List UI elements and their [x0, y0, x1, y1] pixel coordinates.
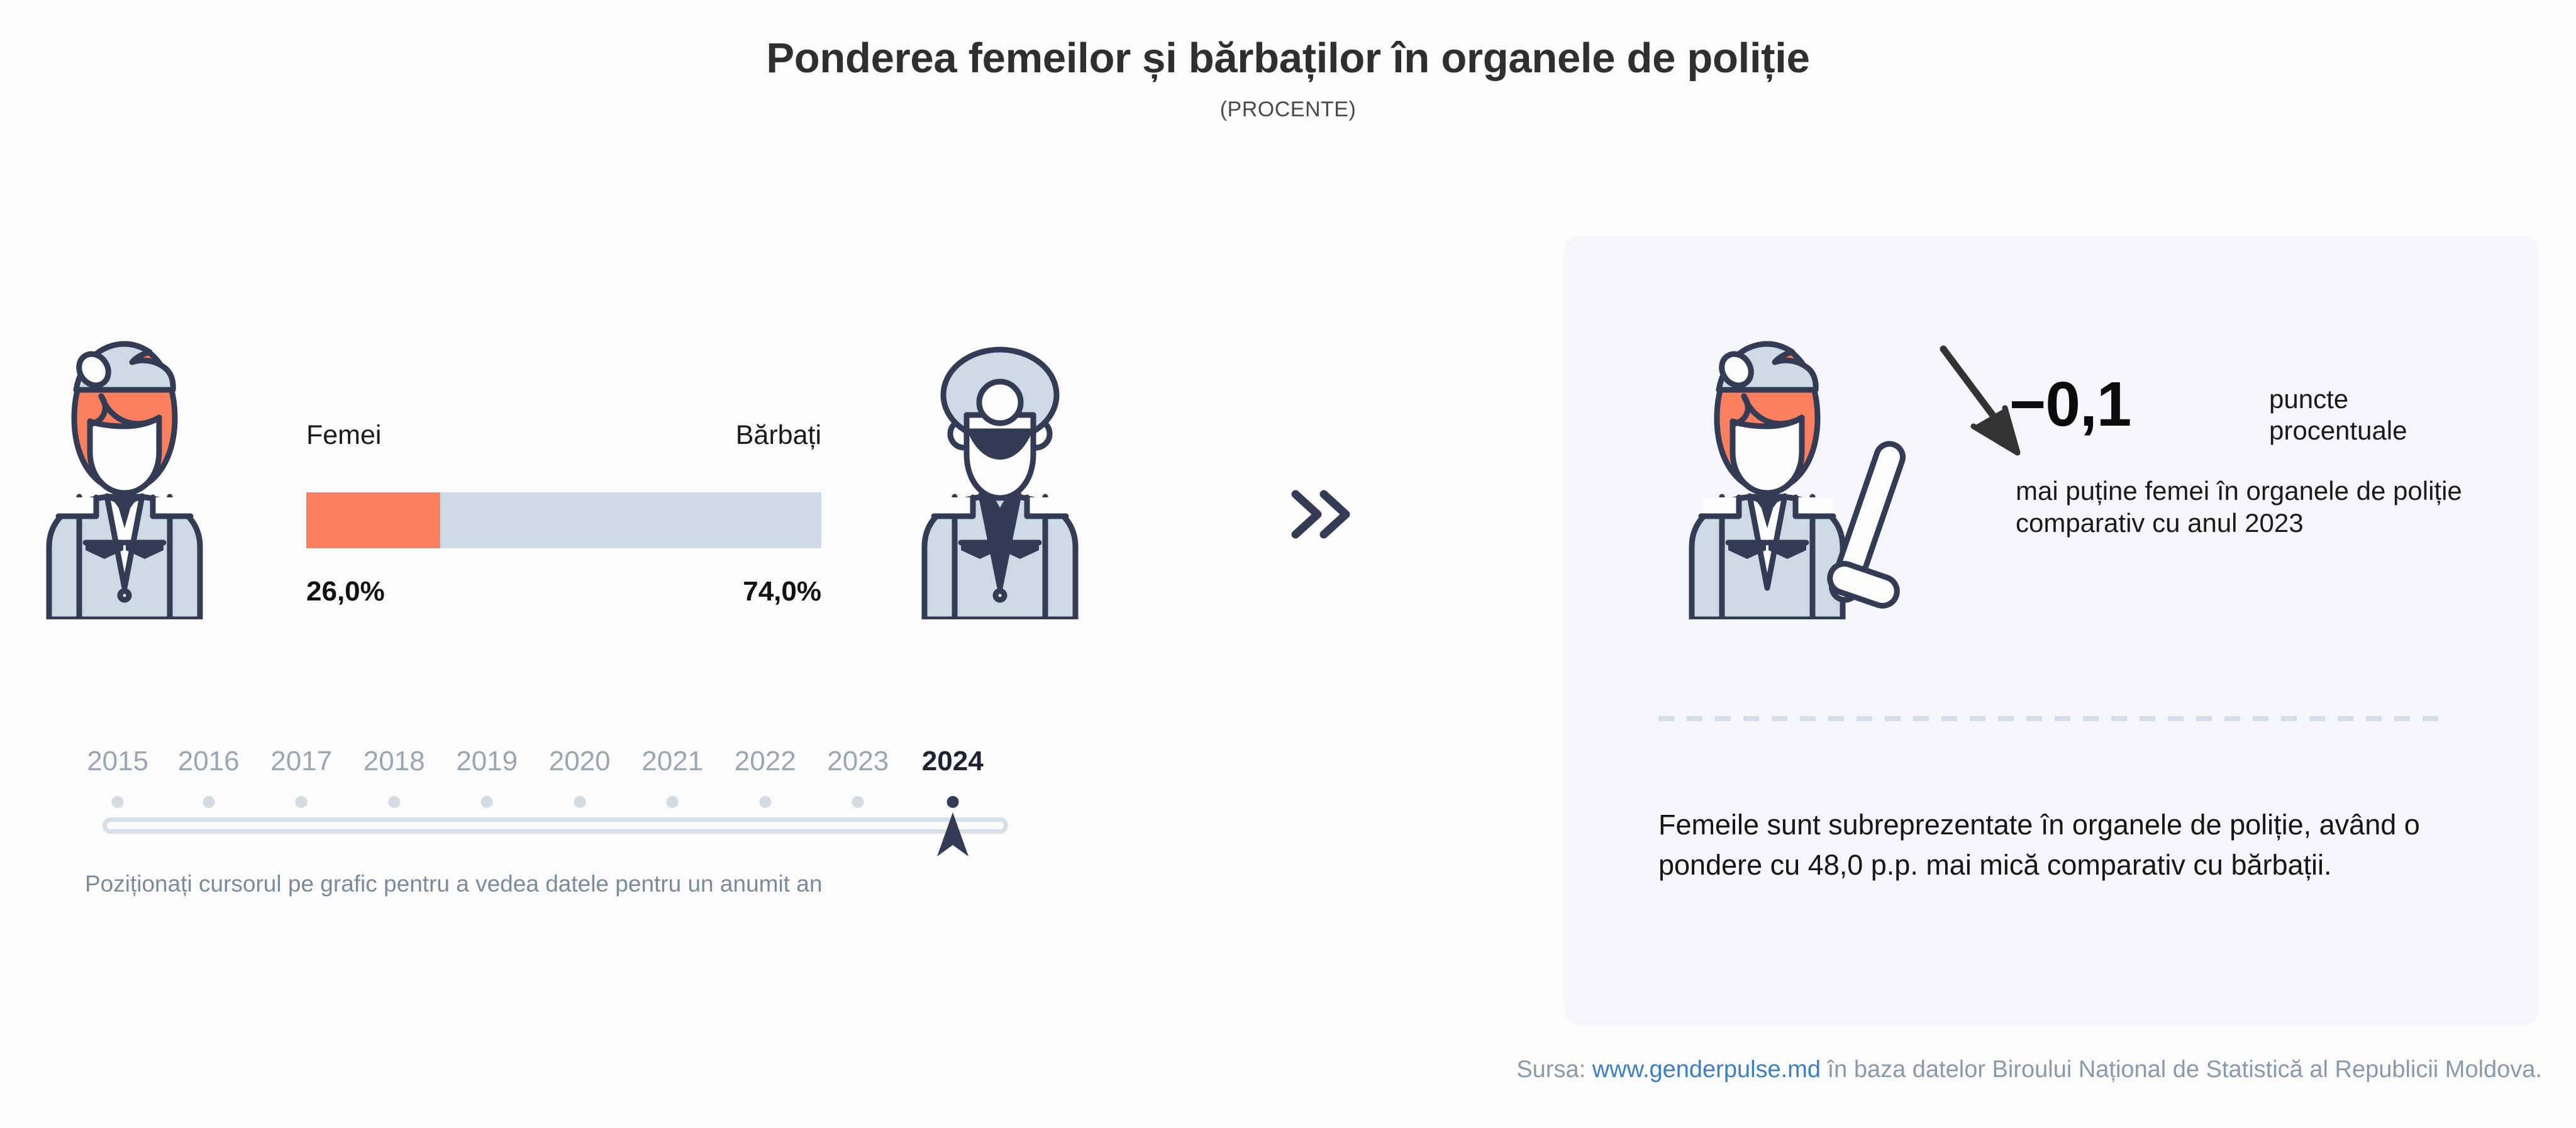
slider-dot-2020[interactable]: [574, 796, 586, 808]
source-line: Sursa: www.genderpulse.md în baza datelo…: [0, 1056, 2542, 1083]
year-label-2019[interactable]: 2019: [456, 746, 518, 777]
bar-value-barbati: 74,0%: [570, 576, 821, 607]
delta-unit-line2: procentuale: [2269, 415, 2407, 446]
slider-dot-2021[interactable]: [667, 796, 679, 808]
female-police-officer-icon: [30, 311, 219, 619]
female-officer-with-baton-icon: [1673, 311, 1924, 619]
year-label-2023[interactable]: 2023: [827, 746, 889, 777]
double-chevron-right-icon: [1283, 483, 1358, 546]
bar-segment-femei[interactable]: [306, 492, 440, 548]
delta-unit-line1: puncte: [2269, 384, 2407, 415]
delta-unit: puncte procentuale: [2269, 384, 2407, 446]
page-subtitle: (PROCENTE): [0, 97, 2576, 122]
bar-value-femei: 26,0%: [306, 576, 385, 607]
year-slider[interactable]: [85, 793, 1022, 863]
bar-label-barbati: Bărbați: [570, 420, 821, 451]
slider-hint: Poziționați cursorul pe grafic pentru a …: [85, 871, 822, 897]
year-label-2024[interactable]: 2024: [922, 746, 984, 777]
slider-dot-2022[interactable]: [759, 796, 771, 808]
year-label-2020[interactable]: 2020: [549, 746, 611, 777]
delta-description: mai puține femei în organele de poliție …: [2016, 475, 2494, 539]
slider-track[interactable]: [103, 817, 1008, 834]
source-prefix: Sursa:: [1516, 1056, 1592, 1083]
slider-dot-2015[interactable]: [112, 796, 124, 808]
slider-dot-2024[interactable]: [947, 796, 958, 808]
slider-dot-2023[interactable]: [852, 796, 864, 808]
delta-value: −0,1: [2009, 373, 2131, 436]
source-link[interactable]: www.genderpulse.md: [1592, 1056, 1821, 1083]
bar-label-femei: Femei: [306, 420, 381, 451]
year-label-2022[interactable]: 2022: [735, 746, 796, 777]
slider-dot-2016[interactable]: [203, 796, 214, 808]
year-label-2016[interactable]: 2016: [178, 746, 240, 777]
stacked-bar[interactable]: [306, 492, 821, 548]
panel-divider: [1658, 716, 2450, 721]
page-title: Ponderea femeilor și bărbaților în organ…: [0, 34, 2576, 82]
infographic-root: Ponderea femeilor și bărbaților în organ…: [0, 0, 2576, 1128]
year-labels: 2015 2016 2017 2018 2019 2020 2021 2022 …: [85, 746, 1022, 786]
slider-dot-2018[interactable]: [388, 796, 400, 808]
year-label-2018[interactable]: 2018: [364, 746, 425, 777]
year-label-2021[interactable]: 2021: [641, 746, 703, 777]
year-label-2015[interactable]: 2015: [87, 746, 148, 777]
year-label-2017[interactable]: 2017: [270, 746, 332, 777]
slider-dot-2017[interactable]: [296, 796, 308, 808]
slider-dot-2019[interactable]: [481, 796, 493, 808]
male-police-officer-icon: [906, 311, 1094, 619]
panel-note: Femeile sunt subreprezentate în organele…: [1658, 805, 2495, 885]
slider-cursor-icon[interactable]: [936, 810, 970, 858]
source-suffix: în baza datelor Biroului Național de Sta…: [1821, 1056, 2542, 1083]
